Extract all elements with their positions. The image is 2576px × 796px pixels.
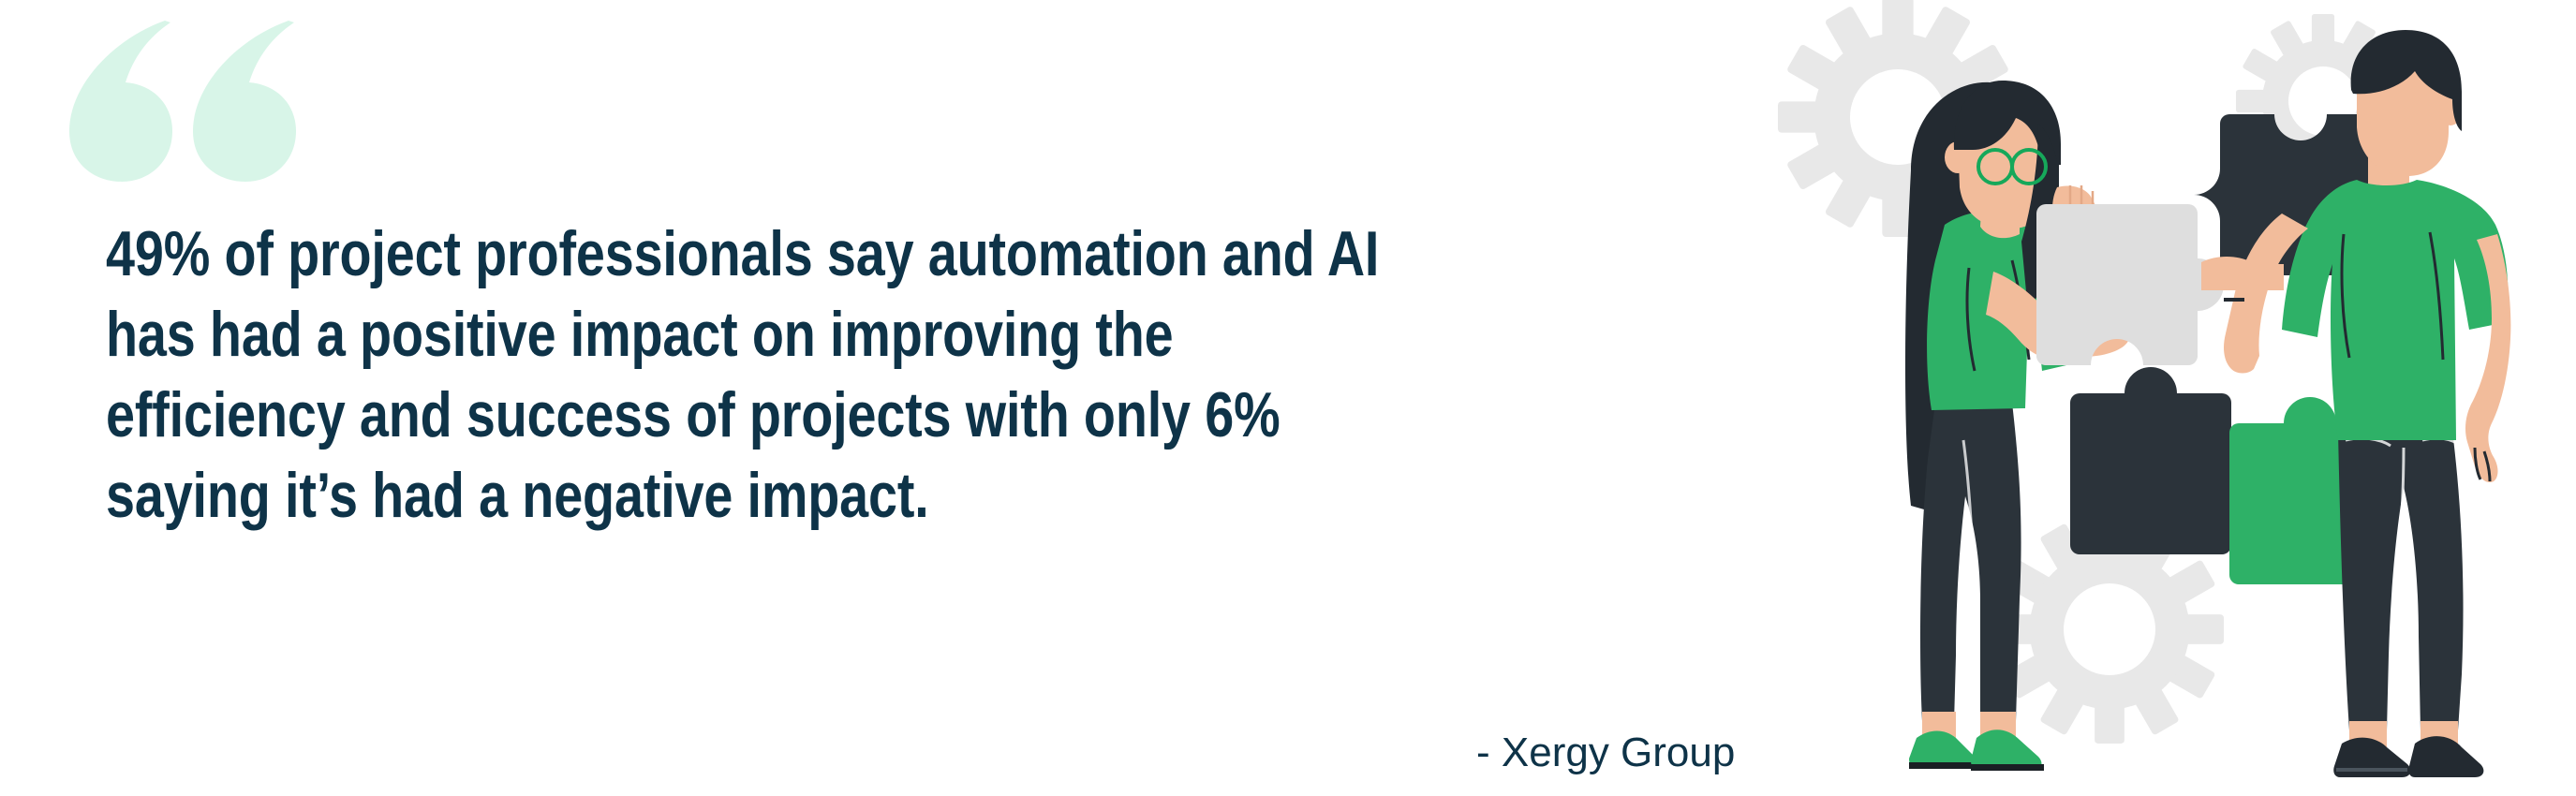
- quote-line-3: efficiency and success of projects with …: [106, 375, 1496, 455]
- two-people-assembling-puzzle-pieces-illustration: [1761, 0, 2576, 796]
- quote-line-4: saying it’s had a negative impact.: [106, 455, 1496, 536]
- quote-line-2: has had a positive impact on improving t…: [106, 294, 1496, 375]
- quote-attribution: - Xergy Group: [1476, 729, 1735, 777]
- quote-text-block: 49% of project professionals say automat…: [106, 214, 1801, 536]
- quote-card: 49% of project professionals say automat…: [0, 0, 2576, 796]
- quote-line-1: 49% of project professionals say automat…: [106, 214, 1496, 294]
- puzzle-piece-charcoal-bottom: [2070, 367, 2231, 554]
- puzzle-piece-grey: [2036, 204, 2224, 365]
- double-quote-icon: [54, 7, 317, 185]
